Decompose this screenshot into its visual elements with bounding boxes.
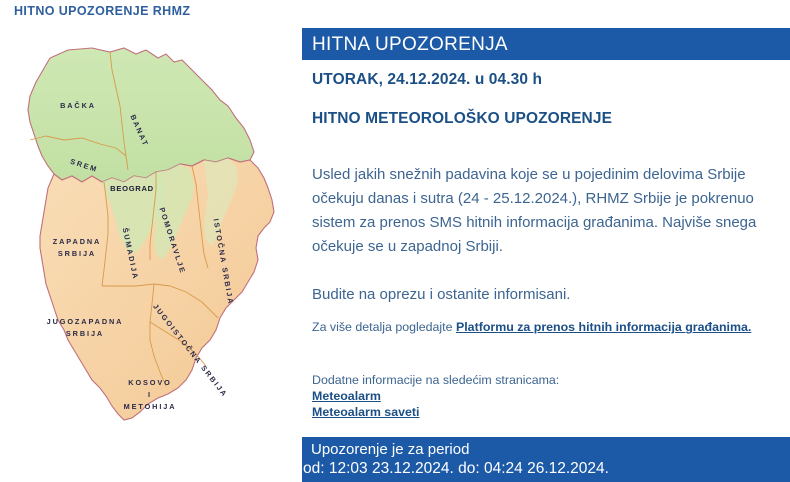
serbia-regions-map: BAČKA BANAT SREM BEOGRAD ZAPADNA SRBIJA … (6, 36, 292, 446)
alert-advice-text: Budite na oprezu i ostanite informisani. (312, 283, 774, 307)
alert-extra-info: Dodatne informacije na sledećim stranica… (312, 372, 760, 420)
map-column: HITNO UPOZORENJE RHMZ (0, 0, 295, 482)
alert-header-bar: HITNA UPOZORENJA (302, 28, 790, 60)
alert-panel: HITNA UPOZORENJA UTORAK, 24.12.2024. u 0… (302, 0, 790, 482)
alert-main-paragraph: Usled jakih snežnih padavina koje se u p… (312, 163, 774, 259)
alert-platform-prefix: Za više detalja pogledajte (312, 320, 456, 334)
alert-period-title: Upozorenje je za period (311, 440, 469, 460)
page-title: HITNO UPOZORENJE RHMZ (14, 4, 190, 18)
alert-platform-line: Za više detalja pogledajte Platformu za … (312, 318, 760, 336)
alert-period-range: od: 12:03 23.12.2024. do: 04:24 26.12.20… (303, 459, 609, 479)
map-svg: BAČKA BANAT SREM BEOGRAD ZAPADNA SRBIJA … (6, 36, 292, 446)
alert-body: UTORAK, 24.12.2024. u 04.30 h HITNO METE… (302, 60, 790, 437)
alert-period-footer: Upozorenje je za period od: 12:03 23.12.… (302, 437, 790, 482)
alert-subtitle: HITNO METEOROLOŠKO UPOZORENJE (312, 110, 612, 128)
alert-datetime: UTORAK, 24.12.2024. u 04.30 h (312, 71, 542, 89)
platform-link[interactable]: Platformu za prenos hitnih informacija g… (456, 320, 751, 334)
alert-extra-intro: Dodatne informacije na sledećim stranica… (312, 372, 760, 388)
meteoalarm-saveti-link[interactable]: Meteoalarm saveti (312, 404, 760, 420)
meteoalarm-link[interactable]: Meteoalarm (312, 388, 760, 404)
alert-header-title: HITNA UPOZORENJA (302, 35, 508, 54)
